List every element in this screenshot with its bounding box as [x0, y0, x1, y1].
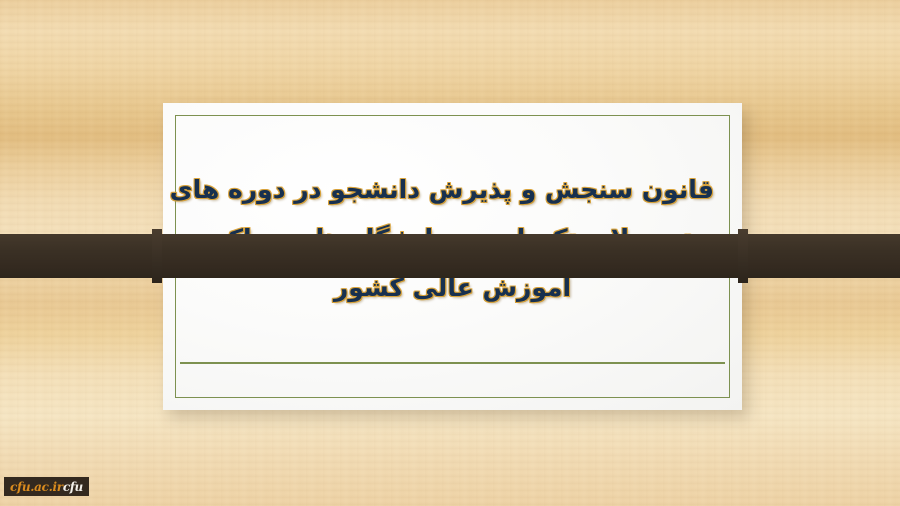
band-cap-right: [738, 229, 748, 283]
watermark-logo-text: cfu: [63, 480, 83, 494]
band-cap-left: [152, 229, 162, 283]
green-divider-rule: [180, 362, 725, 364]
title-line-1: قانون سنجش و پذیرش دانشجو در دوره های: [191, 165, 714, 214]
watermark: cfu cfu.ac.ir: [4, 477, 89, 496]
decorative-dark-band: [0, 234, 900, 278]
slide-canvas: قانون سنجش و پذیرش دانشجو در دوره های تح…: [0, 0, 900, 506]
watermark-domain-text: cfu.ac.ir: [9, 480, 63, 494]
